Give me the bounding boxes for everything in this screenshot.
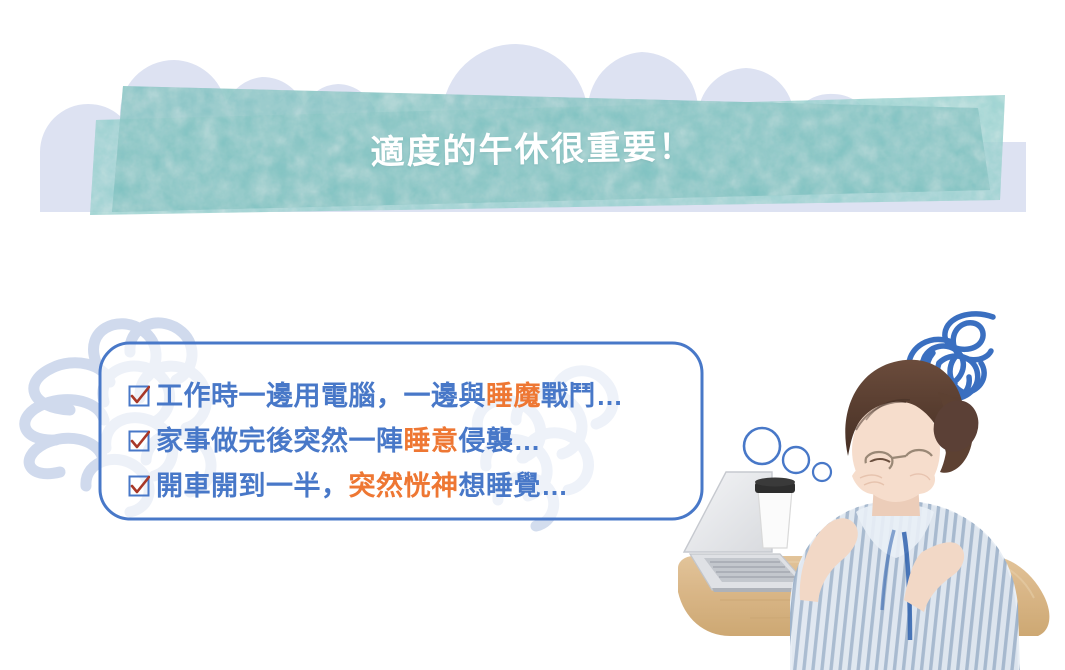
tired-woman-at-desk-photo bbox=[660, 300, 1065, 670]
poster-canvas: 適度的午休很重要！ bbox=[0, 0, 1065, 670]
header-banner: 適度的午休很重要！ bbox=[0, 0, 1065, 240]
list-item: 工作時一邊用電腦，一邊與睡魔戰鬥… bbox=[128, 373, 728, 418]
woman-head bbox=[845, 360, 985, 516]
list-item: 開車開到一半，突然恍神想睡覺… bbox=[128, 463, 728, 508]
bubble-checklist: 工作時一邊用電腦，一邊與睡魔戰鬥… 家事做完後突然一陣睡意侵襲… bbox=[128, 373, 728, 508]
woman-body bbox=[790, 501, 1020, 670]
list-item-text: 工作時一邊用電腦，一邊與睡魔戰鬥… bbox=[156, 380, 624, 412]
checked-box-icon bbox=[128, 475, 150, 497]
list-item: 家事做完後突然一陣睡意侵襲… bbox=[128, 418, 728, 463]
list-item-text: 家事做完後突然一陣睡意侵襲… bbox=[156, 425, 541, 457]
list-item-text: 開車開到一半，突然恍神想睡覺… bbox=[156, 470, 569, 502]
checked-box-icon bbox=[128, 385, 150, 407]
checked-box-icon bbox=[128, 430, 150, 452]
